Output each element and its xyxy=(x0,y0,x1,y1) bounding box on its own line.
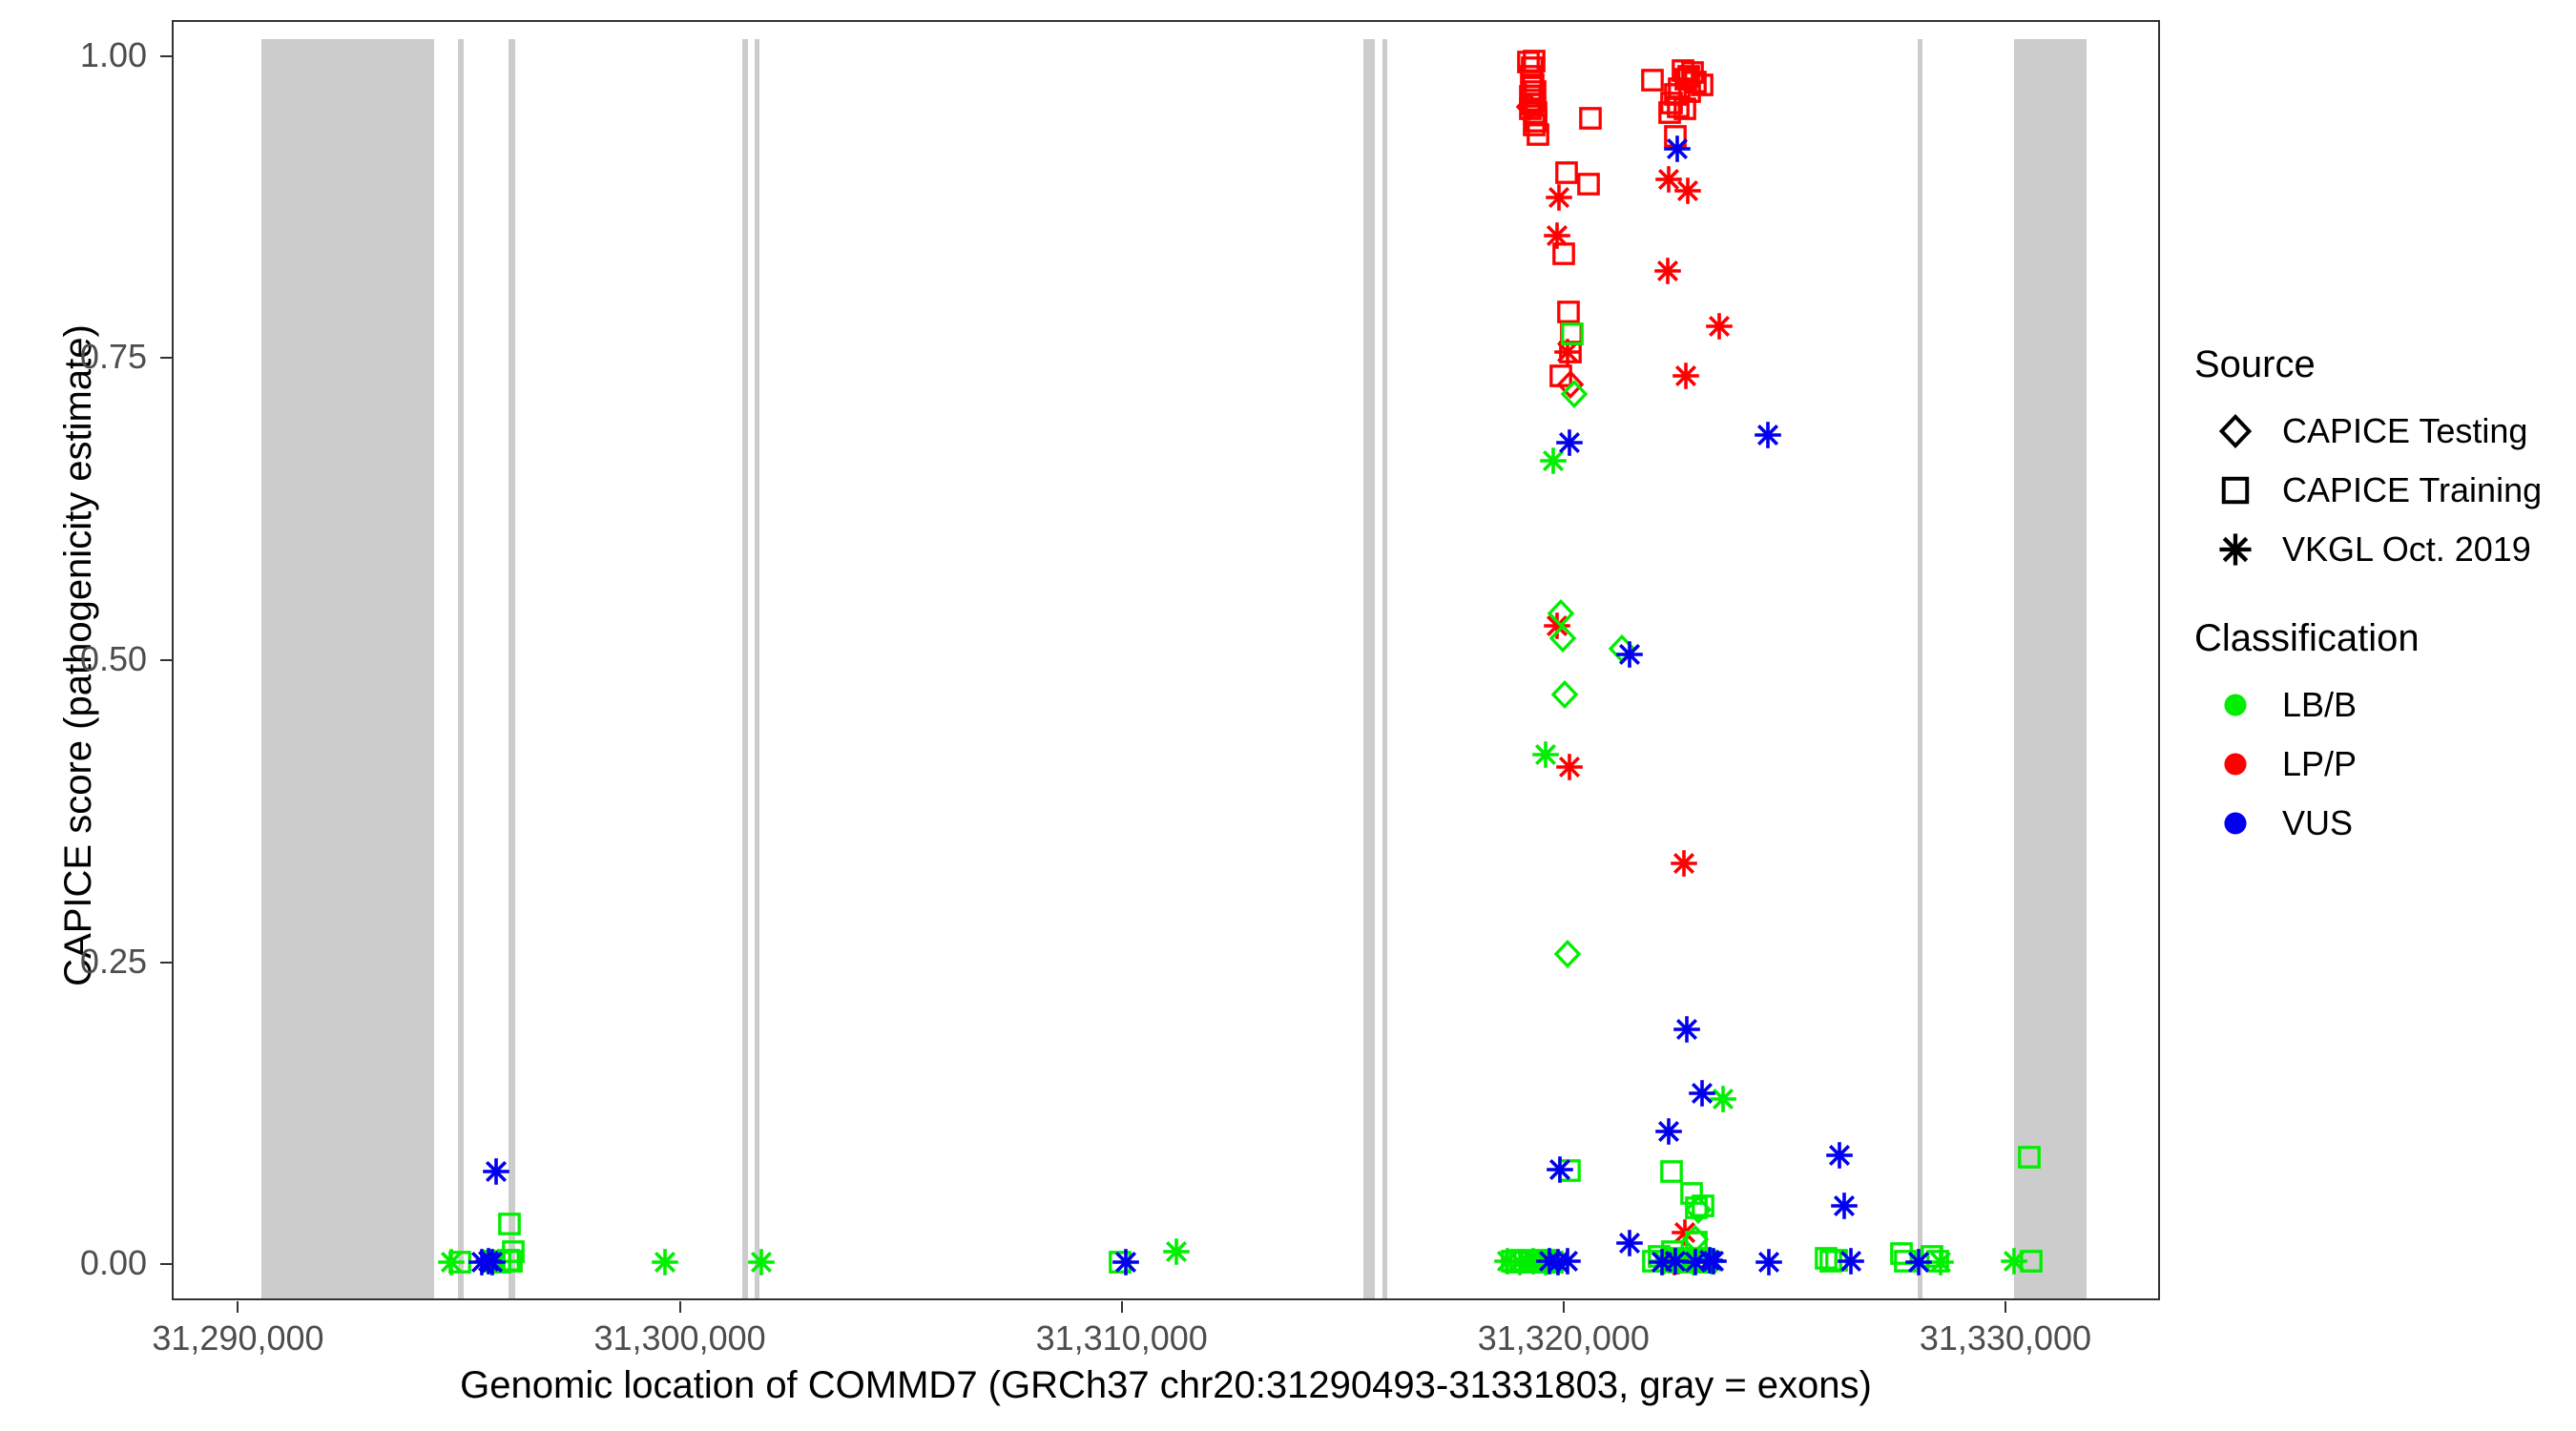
scatter-point xyxy=(1891,1247,1920,1275)
x-tick-label: 31,310,000 xyxy=(1036,1318,1208,1358)
scatter-point xyxy=(1678,58,1707,87)
scatter-point xyxy=(1544,1248,1572,1276)
scatter-point xyxy=(1639,1247,1668,1275)
scatter-point xyxy=(1669,56,1697,85)
scatter-point xyxy=(1516,82,1545,111)
scatter-point xyxy=(1674,1247,1703,1275)
scatter-point xyxy=(1709,1085,1737,1113)
scatter-point xyxy=(1519,1247,1548,1275)
scatter-point xyxy=(1553,1247,1582,1275)
y-tick-mark xyxy=(160,357,172,359)
scatter-point xyxy=(1904,1248,1933,1276)
scatter-point xyxy=(1555,753,1584,781)
scatter-point xyxy=(1672,1015,1701,1044)
scatter-point xyxy=(1517,62,1546,91)
scatter-point xyxy=(1557,320,1586,348)
scatter-point xyxy=(1658,1244,1687,1273)
scatter-point xyxy=(1680,1244,1709,1273)
legend-group-classification: ClassificationLB/BLP/PVUS xyxy=(2194,617,2566,853)
scatter-point xyxy=(1655,98,1684,127)
scatter-point xyxy=(1652,1247,1681,1275)
scatter-point xyxy=(1502,1248,1530,1276)
scatter-point xyxy=(1615,1229,1644,1257)
scatter-point xyxy=(651,1248,679,1276)
scatter-point xyxy=(1553,940,1582,968)
scatter-point xyxy=(1558,320,1587,348)
scatter-point xyxy=(1661,1247,1690,1275)
scatter-point xyxy=(1514,48,1543,76)
scatter-point xyxy=(1653,257,1682,285)
legend-item[interactable]: LP/P xyxy=(2194,735,2566,794)
x-tick-mark xyxy=(2005,1301,2006,1313)
scatter-point xyxy=(499,1237,528,1266)
scatter-point xyxy=(1518,53,1547,82)
legend: SourceCAPICE TestingCAPICE TrainingVKGL … xyxy=(2194,343,2566,891)
scatter-point xyxy=(1560,380,1589,408)
scatter-point xyxy=(1552,158,1581,187)
scatter-point xyxy=(1498,1247,1527,1275)
scatter-point xyxy=(1608,634,1636,663)
scatter-point xyxy=(1518,90,1547,118)
scatter-point xyxy=(1670,1246,1698,1275)
y-tick-mark xyxy=(160,659,172,661)
scatter-point xyxy=(1553,338,1582,366)
scatter-point xyxy=(1516,1248,1545,1276)
scatter-point xyxy=(1887,1239,1916,1268)
scatter-point xyxy=(1519,71,1548,99)
legend-item-label: CAPICE Testing xyxy=(2282,411,2527,451)
scatter-point xyxy=(1682,1193,1711,1222)
scatter-point xyxy=(437,1248,466,1276)
scatter-point xyxy=(1817,1247,1845,1275)
scatter-point xyxy=(1923,1247,1952,1275)
scatter-point xyxy=(1554,298,1583,326)
x-tick-mark xyxy=(1121,1301,1123,1313)
scatter-point xyxy=(1515,93,1544,121)
scatter-point xyxy=(1697,1247,1726,1275)
capice-scatter-figure: CAPICE score (pathogenicity estimate) 0.… xyxy=(0,0,2576,1431)
scatter-point xyxy=(495,1210,524,1238)
scatter-point xyxy=(1516,94,1545,123)
scatter-point xyxy=(1106,1248,1134,1276)
scatter-point xyxy=(1535,1247,1564,1275)
scatter-point xyxy=(486,1248,514,1276)
scatter-point xyxy=(1524,120,1552,149)
scatter-point xyxy=(1493,1247,1522,1275)
legend-item[interactable]: CAPICE Training xyxy=(2194,461,2566,520)
x-tick-label: 31,290,000 xyxy=(152,1318,323,1358)
scatter-point xyxy=(1531,1246,1560,1275)
scatter-point xyxy=(1555,428,1584,457)
scatter-point xyxy=(1520,86,1548,114)
scatter-point xyxy=(1547,599,1575,628)
circle-icon xyxy=(2206,794,2265,853)
scatter-point xyxy=(1661,80,1690,109)
y-tick-mark xyxy=(160,55,172,57)
x-tick-label: 31,330,000 xyxy=(1920,1318,2091,1358)
scatter-point xyxy=(1548,624,1577,653)
y-tick-label: 0.75 xyxy=(80,337,147,377)
x-tick-label: 31,300,000 xyxy=(593,1318,765,1358)
y-tick-label: 0.50 xyxy=(80,639,147,679)
legend-item[interactable]: VUS xyxy=(2194,794,2566,853)
scatter-point xyxy=(467,1248,496,1276)
scatter-point xyxy=(1689,1192,1717,1220)
scatter-point xyxy=(1670,849,1698,878)
scatter-point xyxy=(1555,1156,1584,1185)
scatter-point xyxy=(1661,122,1690,151)
scatter-point xyxy=(1837,1247,1865,1275)
scatter-point xyxy=(1523,1247,1551,1275)
scatter-point xyxy=(1543,221,1571,250)
scatter-point xyxy=(478,1248,507,1276)
scatter-point xyxy=(1543,612,1571,640)
scatter-point xyxy=(1531,740,1560,769)
scatter-point xyxy=(1547,362,1575,390)
y-tick-label: 1.00 xyxy=(80,35,147,75)
scatter-point xyxy=(1688,71,1716,99)
scatter-point xyxy=(1686,1248,1714,1276)
scatter-point xyxy=(1506,1248,1534,1276)
scatter-point xyxy=(1699,1247,1728,1275)
scatter-point xyxy=(1688,1079,1716,1108)
diamond-icon xyxy=(2206,402,2265,461)
scatter-point xyxy=(1663,135,1692,163)
scatter-point xyxy=(497,1247,526,1275)
scatter-point xyxy=(1825,1141,1854,1170)
scatter-point xyxy=(1657,1157,1686,1186)
scatter-point xyxy=(1674,62,1703,91)
scatter-point xyxy=(1550,680,1579,709)
x-tick-mark xyxy=(679,1301,681,1313)
x-tick-mark xyxy=(1563,1301,1565,1313)
scatter-point xyxy=(2017,1247,2046,1275)
scatter-point xyxy=(1675,77,1704,106)
scatter-point xyxy=(1754,421,1782,449)
scatter-point xyxy=(1681,68,1710,96)
scatter-point xyxy=(1650,1247,1678,1275)
scatter-point xyxy=(1664,93,1693,121)
scatter-point xyxy=(1546,1155,1574,1184)
legend-item-label: LB/B xyxy=(2282,685,2357,725)
x-tick-mark xyxy=(237,1301,239,1313)
scatter-point xyxy=(1681,1248,1710,1276)
scatter-point xyxy=(1664,1247,1693,1275)
y-tick-mark xyxy=(160,1263,172,1265)
scatter-point xyxy=(482,1157,510,1186)
scatter-point xyxy=(1520,47,1548,75)
scatter-point xyxy=(1682,1228,1711,1256)
scatter-point xyxy=(494,1246,523,1275)
scatter-point xyxy=(1648,1248,1676,1276)
circle-icon xyxy=(2206,735,2265,794)
scatter-point xyxy=(1645,1242,1673,1271)
scatter-point xyxy=(1812,1244,1840,1273)
scatter-point xyxy=(1556,338,1585,366)
scatter-point xyxy=(1539,446,1568,475)
scatter-point xyxy=(1657,89,1686,117)
legend-item-label: CAPICE Training xyxy=(2282,470,2542,510)
scatter-point xyxy=(1684,1195,1713,1224)
scatter-point xyxy=(1522,107,1550,135)
scatter-point xyxy=(1510,1247,1539,1275)
scatter-point xyxy=(474,1247,503,1275)
scatter-point xyxy=(446,1248,474,1276)
scatter-point xyxy=(1677,1179,1706,1208)
y-tick-label: 0.00 xyxy=(80,1243,147,1283)
circle-icon xyxy=(2206,675,2265,735)
scatter-point xyxy=(1665,74,1693,103)
square-icon xyxy=(2206,461,2265,520)
scatter-point xyxy=(1615,640,1644,669)
scatter-point xyxy=(1654,165,1683,194)
scatter-point xyxy=(1538,1248,1567,1276)
plot-panel xyxy=(172,20,2160,1300)
scatter-point xyxy=(1664,1248,1693,1276)
legend-group-source: SourceCAPICE TestingCAPICE TrainingVKGL … xyxy=(2194,343,2566,579)
scatter-point xyxy=(1506,1246,1535,1275)
scatter-point xyxy=(1549,239,1578,268)
scatter-point xyxy=(1574,170,1603,198)
y-tick-mark xyxy=(160,962,172,964)
scatter-point xyxy=(1918,1242,1946,1271)
scatter-point xyxy=(1830,1192,1859,1220)
asterisk-icon xyxy=(2206,520,2265,579)
scatter-point xyxy=(1556,370,1585,399)
scatter-point xyxy=(1654,1117,1683,1146)
legend-item[interactable]: VKGL Oct. 2019 xyxy=(2194,520,2566,579)
scatter-points-layer xyxy=(174,22,2158,1298)
y-tick-label: 0.25 xyxy=(80,942,147,982)
scatter-point xyxy=(1695,1246,1724,1275)
scatter-point xyxy=(1673,176,1702,205)
legend-item-label: LP/P xyxy=(2282,744,2357,784)
legend-item[interactable]: LB/B xyxy=(2194,675,2566,735)
scatter-point xyxy=(1545,183,1573,212)
scatter-point xyxy=(1926,1248,1955,1276)
scatter-point xyxy=(1681,1225,1710,1254)
scatter-point xyxy=(1531,1248,1560,1276)
legend-item[interactable]: CAPICE Testing xyxy=(2194,402,2566,461)
scatter-point xyxy=(747,1248,776,1276)
scatter-point xyxy=(1755,1248,1783,1276)
legend-item-label: VUS xyxy=(2282,803,2353,843)
scatter-point xyxy=(1660,1248,1689,1276)
legend-item-label: VKGL Oct. 2019 xyxy=(2282,529,2531,570)
scatter-point xyxy=(1671,94,1699,123)
scatter-point xyxy=(1638,66,1667,94)
x-tick-label: 31,320,000 xyxy=(1478,1318,1650,1358)
scatter-point xyxy=(1679,1248,1708,1276)
legend-group-title: Classification xyxy=(2194,617,2566,660)
scatter-point xyxy=(1705,312,1734,341)
scatter-point xyxy=(1822,1246,1851,1275)
scatter-point xyxy=(1658,1237,1687,1266)
scatter-point xyxy=(1111,1248,1140,1276)
scatter-point xyxy=(1671,1218,1699,1247)
scatter-point xyxy=(1692,1247,1720,1275)
x-axis-title: Genomic location of COMMD7 (GRCh37 chr20… xyxy=(172,1364,2160,1407)
scatter-point xyxy=(1672,65,1700,93)
scatter-point xyxy=(2000,1247,2028,1275)
scatter-point xyxy=(1520,111,1548,139)
scatter-point xyxy=(1521,77,1549,106)
legend-group-title: Source xyxy=(2194,343,2566,386)
scatter-point xyxy=(1576,104,1605,133)
scatter-point xyxy=(2015,1143,2044,1172)
scatter-point xyxy=(480,1247,509,1275)
scatter-point xyxy=(1162,1237,1191,1266)
scatter-point xyxy=(1522,98,1550,127)
scatter-point xyxy=(1672,362,1700,390)
scatter-point xyxy=(1528,1248,1557,1276)
